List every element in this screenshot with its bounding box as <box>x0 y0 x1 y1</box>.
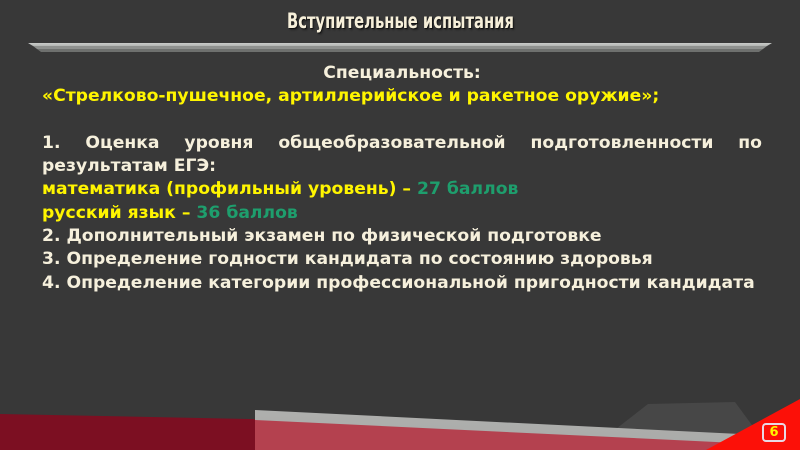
exam-item-2: 2. Дополнительный экзамен по физической … <box>42 225 762 248</box>
page-number-text: 6 <box>769 426 778 439</box>
slide-title-bar: Вступительные испытания <box>0 4 800 38</box>
math-subject-label: математика (профильный уровень) – <box>42 179 417 199</box>
specialty-heading: Специальность: <box>42 62 762 85</box>
russian-subject-label: русский язык – <box>42 203 196 223</box>
exam-item-4: 4. Определение категории профессионально… <box>42 272 762 295</box>
slide-body: Специальность: «Стрелково-пушечное, арти… <box>42 62 762 295</box>
divider-bevel-middle <box>28 46 772 49</box>
divider-bevel-top <box>28 43 772 46</box>
page-number-badge: 6 <box>762 423 786 442</box>
slide-canvas: Вступительные испытания Специальность: «… <box>0 0 800 450</box>
math-score-line: математика (профильный уровень) – 27 бал… <box>42 178 762 201</box>
specialty-name: «Стрелково-пушечное, артиллерийское и ра… <box>42 85 762 108</box>
body-spacer <box>42 109 762 132</box>
exam-item-1: 1. Оценка уровня общеобразовательной под… <box>42 132 762 179</box>
exam-item-3: 3. Определение годности кандидата по сос… <box>42 248 762 271</box>
page-title: Вступительные испытания <box>287 9 514 33</box>
math-score-value: 27 баллов <box>417 179 518 199</box>
title-divider <box>28 43 772 52</box>
russian-score-value: 36 баллов <box>196 203 297 223</box>
russian-score-line: русский язык – 36 баллов <box>42 202 762 225</box>
divider-bevel-bottom <box>28 49 772 52</box>
